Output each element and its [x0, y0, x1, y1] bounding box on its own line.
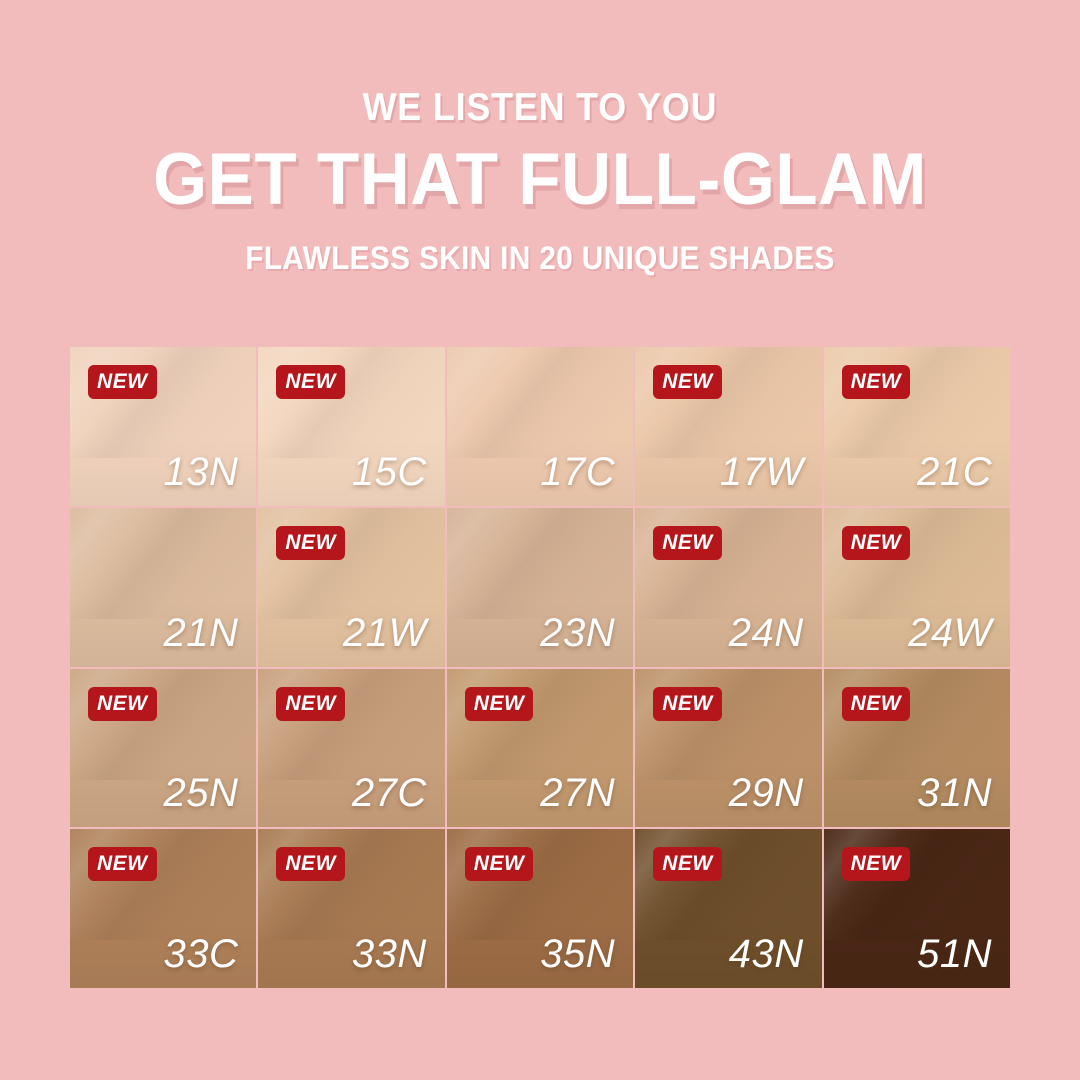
- new-badge: NEW: [88, 847, 157, 881]
- shade-code-label: 17C: [540, 452, 615, 492]
- shade-code-label: 27C: [352, 773, 427, 813]
- new-badge: NEW: [842, 365, 911, 399]
- new-badge: NEW: [842, 687, 911, 721]
- shade-code-label: 17W: [720, 452, 804, 492]
- shade-swatch[interactable]: 17C: [447, 347, 633, 506]
- shade-swatch[interactable]: NEW17W: [635, 347, 821, 506]
- new-badge: NEW: [276, 526, 345, 560]
- new-badge: NEW: [653, 847, 722, 881]
- shade-swatch[interactable]: NEW25N: [70, 669, 256, 828]
- new-badge: NEW: [653, 526, 722, 560]
- shade-code-label: 51N: [917, 934, 992, 974]
- shade-code-label: 21W: [343, 613, 427, 653]
- shade-code-label: 24W: [908, 613, 992, 653]
- shade-swatch[interactable]: NEW31N: [824, 669, 1010, 828]
- shade-swatch[interactable]: NEW27C: [258, 669, 444, 828]
- shade-swatch[interactable]: NEW21W: [258, 508, 444, 667]
- shade-swatch[interactable]: NEW43N: [635, 829, 821, 988]
- new-badge: NEW: [842, 526, 911, 560]
- shade-swatch[interactable]: 21N: [70, 508, 256, 667]
- promo-header: WE LISTEN TO YOU GET THAT FULL-GLAM FLAW…: [0, 0, 1080, 274]
- new-badge: NEW: [88, 365, 157, 399]
- shade-code-label: 21C: [917, 452, 992, 492]
- shade-swatch[interactable]: NEW33N: [258, 829, 444, 988]
- shade-code-label: 29N: [729, 773, 804, 813]
- shade-code-label: 23N: [540, 613, 615, 653]
- shade-swatch[interactable]: NEW51N: [824, 829, 1010, 988]
- shade-swatch[interactable]: NEW33C: [70, 829, 256, 988]
- new-badge: NEW: [276, 687, 345, 721]
- new-badge: NEW: [842, 847, 911, 881]
- shade-swatch[interactable]: NEW21C: [824, 347, 1010, 506]
- subtitle-text: FLAWLESS SKIN IN 20 UNIQUE SHADES: [38, 242, 1042, 274]
- shade-code-label: 24N: [729, 613, 804, 653]
- shade-swatch-grid: NEW13NNEW15C17CNEW17WNEW21C21NNEW21W23NN…: [70, 347, 1010, 988]
- new-badge: NEW: [653, 687, 722, 721]
- new-badge: NEW: [465, 847, 534, 881]
- shade-swatch[interactable]: NEW27N: [447, 669, 633, 828]
- shade-code-label: 21N: [164, 613, 239, 653]
- shade-code-label: 33C: [164, 934, 239, 974]
- page-title: GET THAT FULL-GLAM: [27, 143, 1053, 216]
- shade-swatch[interactable]: NEW15C: [258, 347, 444, 506]
- shade-swatch[interactable]: 23N: [447, 508, 633, 667]
- shade-swatch[interactable]: NEW24W: [824, 508, 1010, 667]
- new-badge: NEW: [88, 687, 157, 721]
- shade-code-label: 15C: [352, 452, 427, 492]
- new-badge: NEW: [276, 847, 345, 881]
- shade-swatch[interactable]: NEW13N: [70, 347, 256, 506]
- new-badge: NEW: [653, 365, 722, 399]
- shade-code-label: 27N: [540, 773, 615, 813]
- shade-code-label: 33N: [352, 934, 427, 974]
- shade-swatch[interactable]: NEW24N: [635, 508, 821, 667]
- shade-code-label: 43N: [729, 934, 804, 974]
- eyebrow-text: WE LISTEN TO YOU: [43, 88, 1037, 127]
- shade-code-label: 13N: [164, 452, 239, 492]
- shade-code-label: 31N: [917, 773, 992, 813]
- shade-swatch[interactable]: NEW35N: [447, 829, 633, 988]
- new-badge: NEW: [276, 365, 345, 399]
- shade-code-label: 25N: [164, 773, 239, 813]
- shade-code-label: 35N: [540, 934, 615, 974]
- shade-swatch[interactable]: NEW29N: [635, 669, 821, 828]
- new-badge: NEW: [465, 687, 534, 721]
